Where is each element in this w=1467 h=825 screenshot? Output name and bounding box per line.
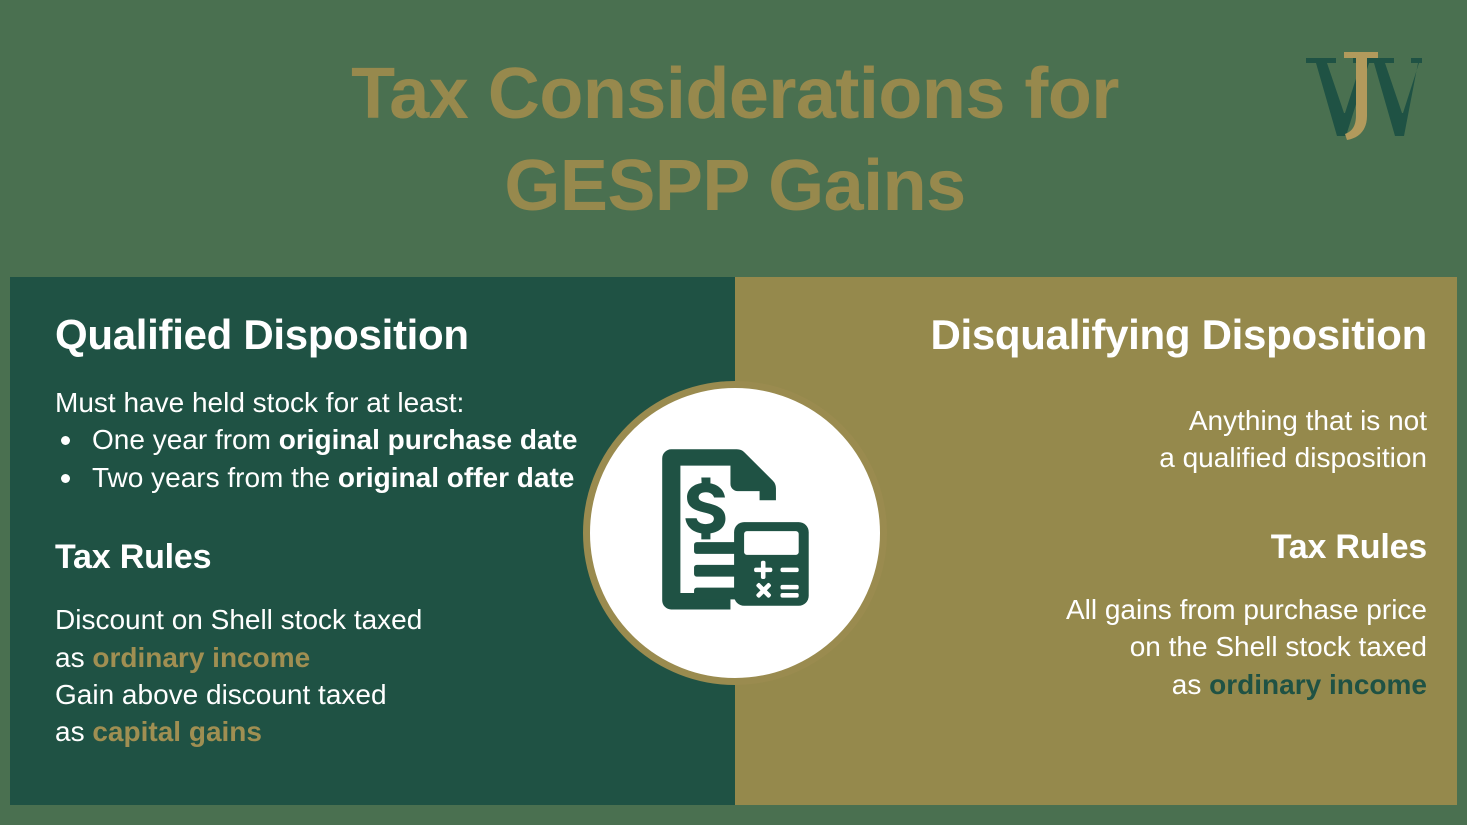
qualified-rule-4-emphasis: capital gains bbox=[92, 716, 262, 747]
criteria-1-prefix: One year from bbox=[92, 424, 279, 455]
qualified-disposition-heading: Qualified Disposition bbox=[55, 313, 735, 357]
criteria-1-emphasis: original purchase date bbox=[279, 424, 578, 455]
logo-j-shape bbox=[1344, 52, 1378, 140]
qualified-rule-2-prefix: as bbox=[55, 642, 92, 673]
page-title-line-2: GESPP Gains bbox=[180, 140, 1290, 232]
infographic-canvas: Tax Considerations for GESPP Gains Quali… bbox=[0, 0, 1467, 825]
disqualifying-rule-3-emphasis: ordinary income bbox=[1209, 669, 1427, 700]
page-title-line-1: Tax Considerations for bbox=[180, 48, 1290, 140]
disqualifying-rule-3-prefix: as bbox=[1172, 669, 1209, 700]
page-title: Tax Considerations for GESPP Gains bbox=[180, 48, 1290, 232]
comparison-panels: Qualified Disposition Must have held sto… bbox=[10, 277, 1457, 805]
vjw-monogram-logo bbox=[1298, 40, 1422, 144]
criteria-2-prefix: Two years from the bbox=[92, 462, 338, 493]
qualified-rule-4-prefix: as bbox=[55, 716, 92, 747]
criteria-2-emphasis: original offer date bbox=[338, 462, 574, 493]
header-band: Tax Considerations for GESPP Gains bbox=[0, 0, 1467, 277]
qualified-rule-2-emphasis: ordinary income bbox=[92, 642, 310, 673]
invoice-calculator-icon bbox=[644, 442, 826, 624]
qualified-rule-line-3: Gain above discount taxed bbox=[55, 676, 735, 713]
disqualifying-disposition-heading: Disqualifying Disposition bbox=[735, 313, 1427, 357]
qualified-intro-text: Must have held stock for at least: bbox=[55, 384, 735, 421]
qualified-rule-line-4: as capital gains bbox=[55, 713, 735, 750]
disqualifying-rule-line-3: as ordinary income bbox=[735, 666, 1427, 703]
center-medallion bbox=[583, 381, 887, 685]
